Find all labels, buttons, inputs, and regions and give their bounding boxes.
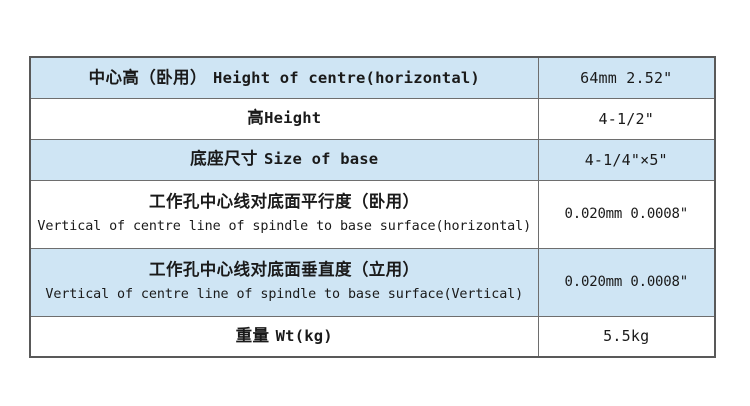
spec-label-line: 底座尺寸 Size of base bbox=[190, 148, 378, 170]
spec-label-en: Vertical of centre line of spindle to ba… bbox=[45, 286, 523, 305]
spec-label-cell-size-of-base: 底座尺寸 Size of base bbox=[30, 139, 538, 180]
spec-value: 64mm 2.52" bbox=[539, 69, 715, 87]
spec-label-stack: 工作孔中心线对底面平行度（卧用）Vertical of centre line … bbox=[31, 191, 538, 236]
spec-label-en: Wt(kg) bbox=[276, 327, 333, 345]
spec-value: 4-1/4"×5" bbox=[539, 151, 715, 169]
table-row: 工作孔中心线对底面垂直度（立用）Vertical of centre line … bbox=[30, 248, 715, 316]
spec-value: 0.020mm 0.0008" bbox=[539, 206, 715, 222]
spec-label-cn: 高 bbox=[247, 108, 264, 127]
spec-label-stack: 高Height bbox=[31, 107, 538, 129]
spec-label-line: 高Height bbox=[247, 107, 321, 129]
spec-label-cell-perpendicularity-of-spindle-to-base-vertical: 工作孔中心线对底面垂直度（立用）Vertical of centre line … bbox=[30, 248, 538, 316]
spec-value-cell-perpendicularity-of-spindle-to-base-vertical: 0.020mm 0.0008" bbox=[538, 248, 715, 316]
spec-table-body: 中心高（卧用） Height of centre(horizontal)64mm… bbox=[30, 57, 715, 357]
spec-label-stack: 工作孔中心线对底面垂直度（立用）Vertical of centre line … bbox=[31, 259, 538, 304]
spec-label-line: 中心高（卧用） Height of centre(horizontal) bbox=[89, 67, 480, 89]
spec-label-en: Height of centre(horizontal) bbox=[213, 69, 480, 87]
spec-label-cell-weight: 重量 Wt(kg) bbox=[30, 316, 538, 357]
spec-label-cell-parallelism-of-spindle-to-base-horizontal: 工作孔中心线对底面平行度（卧用）Vertical of centre line … bbox=[30, 180, 538, 248]
spec-label-cell-height-of-centre-horizontal: 中心高（卧用） Height of centre(horizontal) bbox=[30, 57, 538, 98]
spec-table-container: 中心高（卧用） Height of centre(horizontal)64mm… bbox=[29, 56, 716, 356]
table-row: 重量 Wt(kg)5.5kg bbox=[30, 316, 715, 357]
spec-label-cn: 工作孔中心线对底面平行度（卧用） bbox=[149, 191, 419, 213]
table-row: 高Height4-1/2" bbox=[30, 98, 715, 139]
spec-value-cell-height: 4-1/2" bbox=[538, 98, 715, 139]
spec-label-en: Height bbox=[264, 109, 321, 127]
spec-label-stack: 中心高（卧用） Height of centre(horizontal) bbox=[31, 67, 538, 89]
table-row: 底座尺寸 Size of base4-1/4"×5" bbox=[30, 139, 715, 180]
spec-label-en: Vertical of centre line of spindle to ba… bbox=[37, 218, 531, 237]
spec-value-cell-parallelism-of-spindle-to-base-horizontal: 0.020mm 0.0008" bbox=[538, 180, 715, 248]
spec-label-stack: 底座尺寸 Size of base bbox=[31, 148, 538, 170]
spec-label-cn: 底座尺寸 bbox=[190, 149, 258, 168]
spec-value: 4-1/2" bbox=[539, 110, 715, 128]
spec-value: 5.5kg bbox=[539, 327, 715, 345]
table-row: 中心高（卧用） Height of centre(horizontal)64mm… bbox=[30, 57, 715, 98]
spec-value-cell-size-of-base: 4-1/4"×5" bbox=[538, 139, 715, 180]
spec-label-stack: 重量 Wt(kg) bbox=[31, 325, 538, 347]
spec-value-cell-height-of-centre-horizontal: 64mm 2.52" bbox=[538, 57, 715, 98]
spec-value-cell-weight: 5.5kg bbox=[538, 316, 715, 357]
spec-label-line: 重量 Wt(kg) bbox=[236, 325, 333, 347]
spec-label-cn: 工作孔中心线对底面垂直度（立用） bbox=[149, 259, 419, 281]
spec-label-cn: 重量 bbox=[236, 326, 270, 345]
spec-label-cell-height: 高Height bbox=[30, 98, 538, 139]
spec-value: 0.020mm 0.0008" bbox=[539, 274, 715, 290]
table-row: 工作孔中心线对底面平行度（卧用）Vertical of centre line … bbox=[30, 180, 715, 248]
specifications-table: 中心高（卧用） Height of centre(horizontal)64mm… bbox=[29, 56, 716, 358]
spec-label-cn: 中心高（卧用） bbox=[89, 68, 207, 87]
spec-label-en: Size of base bbox=[264, 150, 378, 168]
